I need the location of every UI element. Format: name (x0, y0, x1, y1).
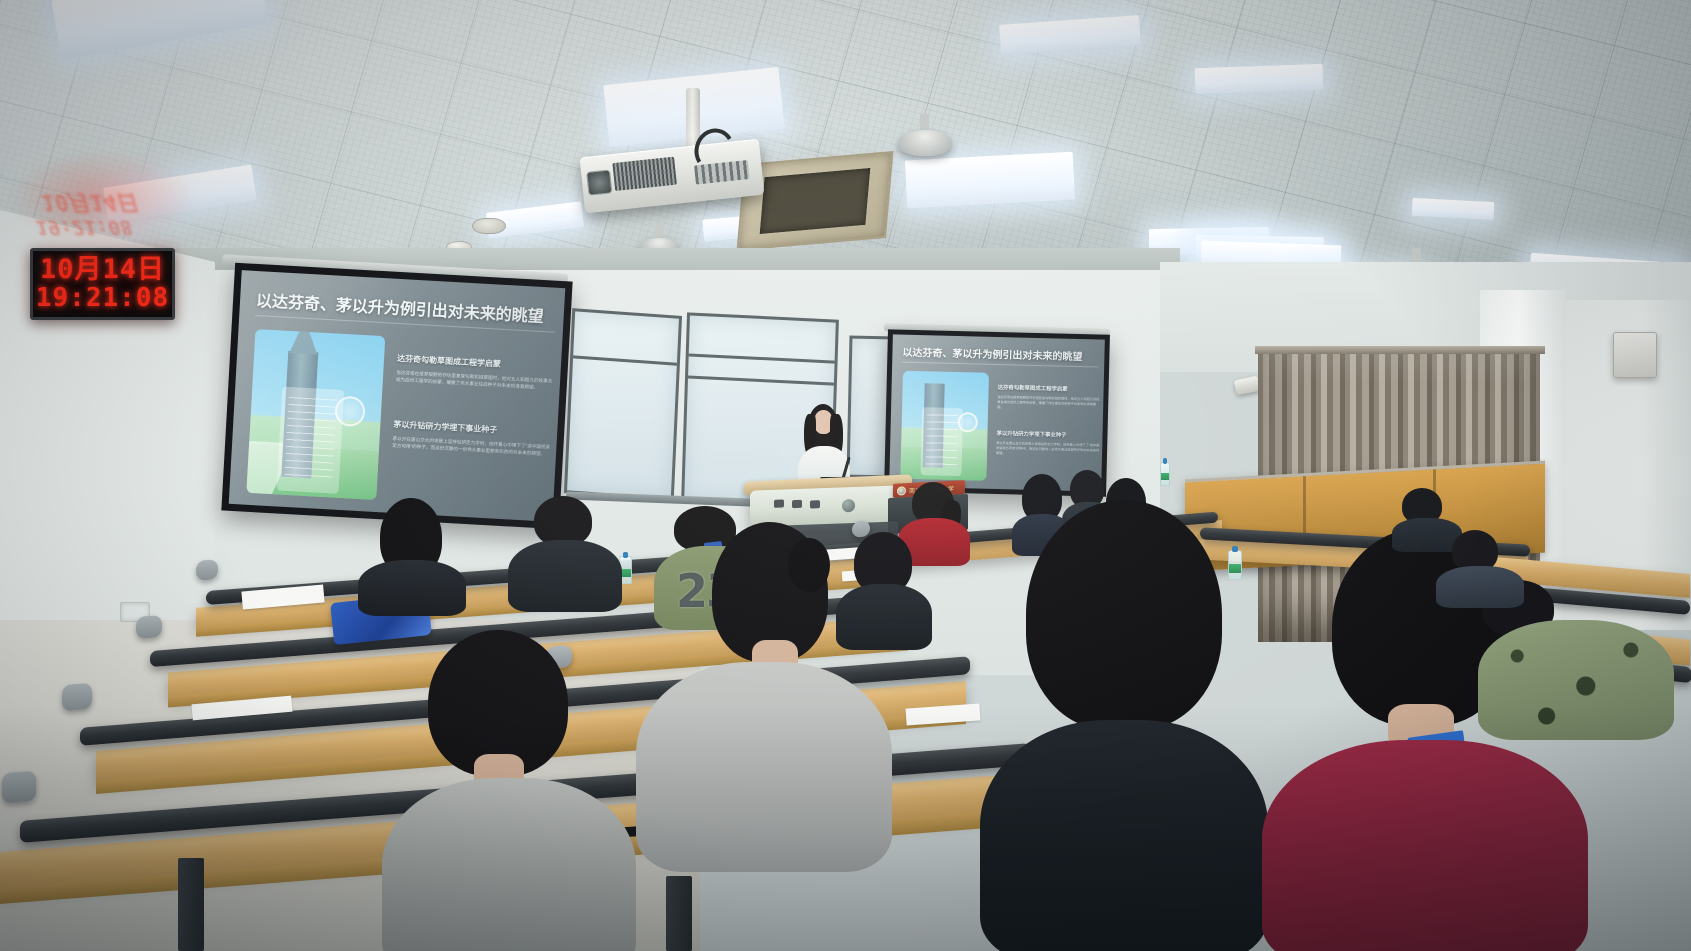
slide-section-1-heading: 达芬奇勾勒草图成工程学启蒙 (397, 353, 501, 370)
side-slide-section-2-body: 茅以升在唐山交大的求是上坚持钻研定力学时，他怀着心中埋下了“造中国桥梁定方可用”… (996, 441, 1100, 458)
side-slide-content: 以达芬奇、茅以升为例引出对未来的眺望 达芬奇勾勒草图成工程学启蒙 当达芬奇在纸梦… (889, 334, 1105, 491)
a1-shirt (358, 560, 466, 616)
desk-rail-cap-e1 (2, 771, 36, 804)
water-bottle-2 (1160, 462, 1170, 486)
side-slide-illustration (900, 371, 989, 481)
a10-shirt (1262, 740, 1588, 951)
whiteboard-1 (564, 308, 682, 501)
slide-section-2-body: 茅以升在唐山交大的求是上坚持钻研定力学时，他怀着心中埋下了“造中国桥梁定方可用”… (392, 435, 553, 458)
clock-date: 10月14日 (40, 256, 165, 284)
illustration-tower-spire (289, 329, 319, 354)
desk-rail-cap-c1 (136, 615, 162, 639)
desk-leg-e2 (666, 876, 692, 951)
whiteboard-2-divider (689, 353, 835, 363)
desk-rail-cap-d1 (62, 683, 92, 711)
led-wall-clock: 10月14日 19:21:08 (30, 248, 175, 320)
audience-member-a12 (980, 500, 1270, 951)
lecture-hall-photo: 10月14日 19:21:08 10月14日 19:21:08 以达芬奇、茅以升… (0, 0, 1691, 951)
a12-shirt (980, 720, 1268, 951)
ceiling-speaker-icon (472, 218, 506, 234)
slide-section-2-heading: 茅以升钻研力学埋下事业种子 (393, 419, 497, 436)
podium-knob[interactable] (842, 499, 855, 512)
side-illustration-card (920, 407, 963, 476)
side-slide-section-1-body: 当达芬奇在纸梦般野的作坊里复复勾勒机械草图时，他对五人知超凡的技事合成为后世工程… (997, 395, 1101, 412)
main-projection-screen: 以达芬奇、茅以升为例引出对未来的眺望 达芬奇勾勒草图成工程学启蒙 当达芬奇在纸梦… (221, 263, 572, 529)
audience-member-a15 (836, 532, 934, 644)
projector-lens-icon (586, 169, 612, 196)
a4-shirt (636, 662, 892, 872)
illustration-card (277, 387, 345, 494)
audience-member-a9 (382, 630, 642, 951)
audience-member-a2 (508, 496, 624, 614)
ceiling-light-13 (1195, 64, 1324, 94)
side-slide-section-2-heading: 茅以升钻研力学埋下事业种子 (996, 429, 1066, 439)
a14-shirt (1436, 566, 1524, 608)
a9-shirt (382, 778, 636, 951)
projector-vent-grille (613, 157, 677, 191)
a4-hair-bun (788, 538, 830, 592)
bottle-cap-icon-2 (1163, 458, 1167, 464)
side-slide-title: 以达芬奇、茅以升为例引出对未来的眺望 (902, 344, 1082, 363)
clock-time: 19:21:08 (36, 285, 169, 312)
a11-shirt (1478, 620, 1674, 740)
wall-speaker-icon (1613, 332, 1657, 378)
paper-3 (905, 703, 980, 725)
side-illustration-card-lines (926, 414, 959, 469)
slide-illustration (246, 329, 385, 500)
audience-member-a14 (1436, 530, 1526, 604)
audience-member-a1 (358, 498, 468, 610)
slide-section-1-body: 当达芬奇在纸梦般野的作坊里复复勾勒机械草图时，他对五人知超凡的技事合成为后世工程… (396, 369, 557, 392)
dome-light-1 (898, 130, 952, 156)
podium-control-1[interactable] (774, 499, 784, 507)
a15-shirt (836, 584, 932, 650)
side-slide-section-1-heading: 达芬奇勾勒草图成工程学启蒙 (998, 383, 1068, 393)
curtain-rod (1255, 346, 1545, 354)
whiteboard-1-divider (573, 355, 677, 365)
a2-shirt (508, 540, 622, 612)
slide-content: 以达芬奇、茅以升为例引出对未来的眺望 达芬奇勾勒草图成工程学启蒙 当达芬奇在纸梦… (229, 270, 566, 522)
a12-hair (1026, 500, 1222, 730)
desk-leg-e1 (178, 858, 204, 951)
podium-control-3[interactable] (810, 500, 820, 508)
ceiling-light-6 (905, 152, 1075, 209)
slide-title: 以达芬奇、茅以升为例引出对未来的眺望 (256, 287, 545, 327)
whiteboard-2-divider-2 (688, 375, 834, 385)
podium-control-2[interactable] (792, 500, 802, 508)
bottle-label-2 (1161, 473, 1169, 480)
a2-hair (534, 496, 592, 546)
illustration-card-lines (285, 397, 337, 483)
wall-camera-icon (1234, 376, 1261, 396)
